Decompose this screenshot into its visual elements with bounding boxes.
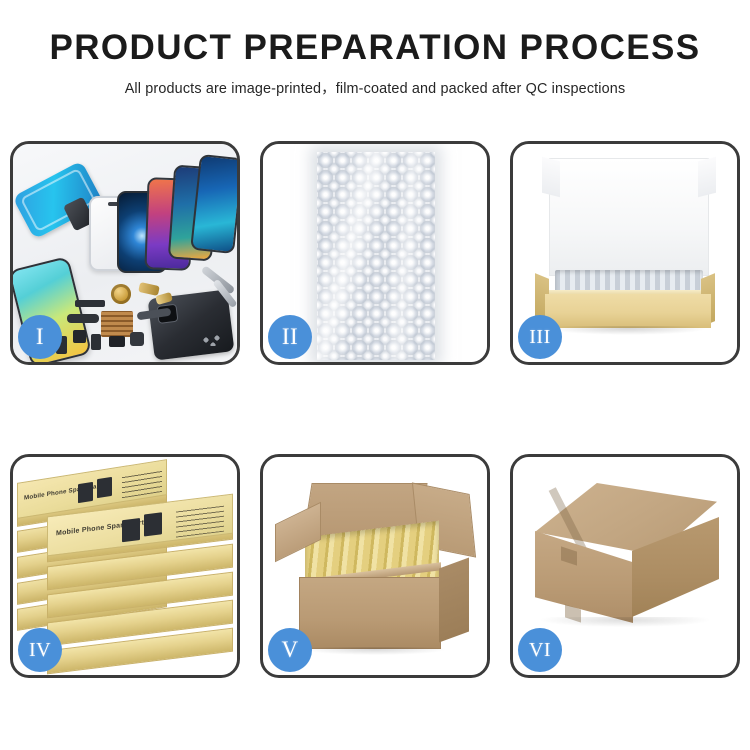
page-subtitle: All products are image-printed，film-coat…: [0, 77, 750, 98]
box-spec-lines: [176, 504, 224, 538]
step-badge-2: II: [268, 315, 312, 359]
box-lid-open: [549, 158, 709, 276]
process-steps-grid: I II III: [10, 141, 740, 678]
box-artwork-phone-2: [144, 512, 162, 536]
carton-side-face: [439, 558, 469, 643]
step-panel-2[interactable]: II: [260, 141, 490, 365]
step-badge-5: V: [268, 628, 312, 672]
part-speaker-coil: [111, 284, 131, 304]
part-chip-b: [91, 334, 101, 350]
part-gold-contact-1: [138, 282, 160, 296]
box-artwork-phone-1: [122, 518, 140, 542]
box-front-face: [545, 294, 711, 328]
box-artwork-phone-2: [97, 477, 112, 498]
part-chip-a: [73, 330, 86, 343]
step-panel-5[interactable]: V: [260, 454, 490, 678]
part-screws: [201, 334, 227, 346]
step-panel-3[interactable]: III: [510, 141, 740, 365]
carton-shadow: [305, 647, 445, 655]
step-panel-6[interactable]: VI: [510, 454, 740, 678]
step-badge-6: VI: [518, 628, 562, 672]
carton-front-face: [299, 577, 441, 649]
part-connector-grid: [101, 311, 133, 337]
step-badge-3: III: [518, 315, 562, 359]
step-panel-4[interactable]: Mobile Phone Spare Parts Mobile Phone Sp…: [10, 454, 240, 678]
bubble-wrap-sheet: [317, 152, 435, 360]
part-chip-d: [130, 332, 144, 346]
box-spec-lines: [122, 468, 162, 498]
box-shadow: [549, 326, 707, 335]
step-badge-1: I: [18, 315, 62, 359]
page-header: PRODUCT PREPARATION PROCESS All products…: [0, 0, 750, 98]
step-panel-1[interactable]: I: [10, 141, 240, 365]
step-badge-4: IV: [18, 628, 62, 672]
page-title: PRODUCT PREPARATION PROCESS: [0, 30, 750, 67]
part-flex-strip: [75, 300, 105, 307]
part-ribbon-cable: [67, 314, 99, 323]
box-artwork-phone-1: [78, 482, 93, 503]
sealed-carton-shadow: [541, 617, 709, 627]
part-chip-c: [109, 336, 125, 347]
